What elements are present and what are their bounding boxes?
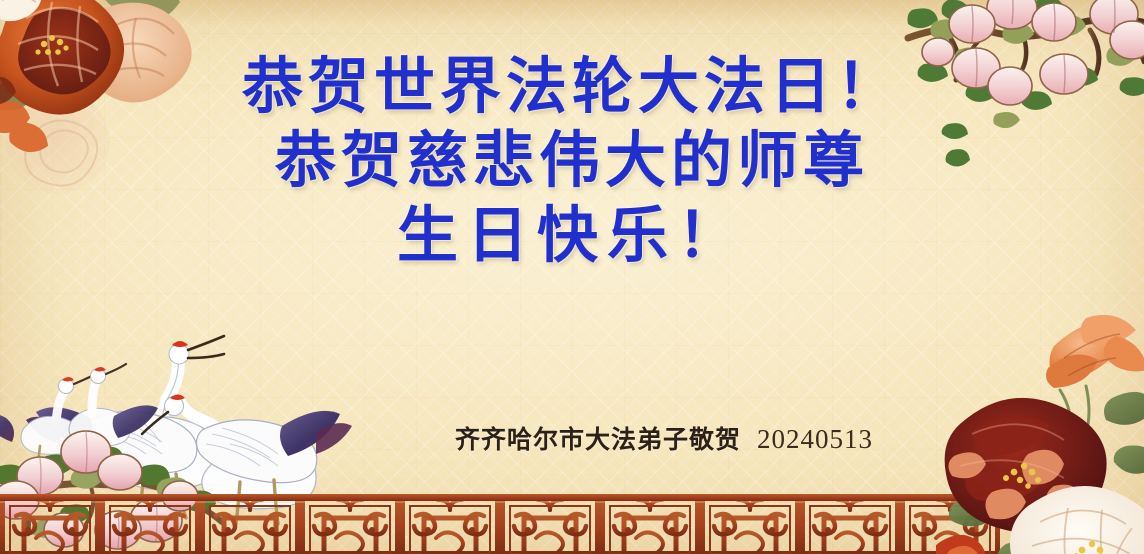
headline-line-3: 生日快乐！	[0, 199, 1144, 273]
greeting-card: 恭贺世界法轮大法日！ 恭贺慈悲伟大的师尊 生日快乐！ 齐齐哈尔市大法弟子敬贺 2…	[0, 0, 1144, 554]
bottom-lattice-railing	[0, 486, 1000, 554]
headline-block: 恭贺世界法轮大法日！ 恭贺慈悲伟大的师尊 生日快乐！	[0, 50, 1144, 273]
signature-sender: 齐齐哈尔市大法弟子敬贺	[455, 420, 741, 456]
background-top-band	[0, 0, 1144, 26]
signature-block: 齐齐哈尔市大法弟子敬贺 20240513	[455, 420, 873, 456]
signature-date: 20240513	[757, 424, 873, 455]
headline-line-2: 恭贺慈悲伟大的师尊	[0, 124, 1144, 198]
headline-line-1: 恭贺世界法轮大法日！	[0, 50, 1144, 124]
